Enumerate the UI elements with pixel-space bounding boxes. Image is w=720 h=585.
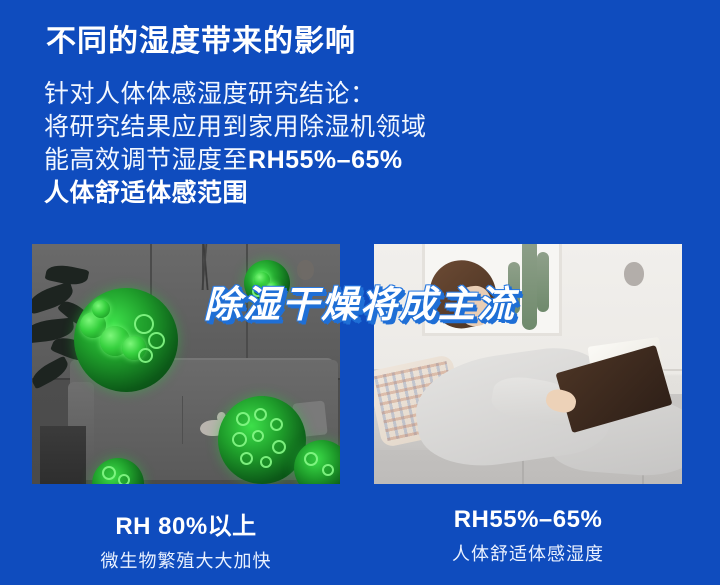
caption-sub: 人体舒适体感湿度 xyxy=(374,540,682,566)
cushion-seam xyxy=(182,396,183,444)
plant-pot xyxy=(40,426,86,484)
overlay-headline: 除湿干燥将成主流 xyxy=(0,274,720,328)
microbe-cluster-icon xyxy=(218,396,306,484)
caption-sub: 微生物繁殖大大加快 xyxy=(32,547,340,573)
caption-head: RH55%–65% xyxy=(374,506,682,534)
caption-head: RH 80%以上 xyxy=(32,506,340,541)
caption-high-humidity: RH 80%以上 微生物繁殖大大加快 xyxy=(32,506,340,573)
caption-comfort-humidity: RH55%–65% 人体舒适体感湿度 xyxy=(374,506,682,566)
